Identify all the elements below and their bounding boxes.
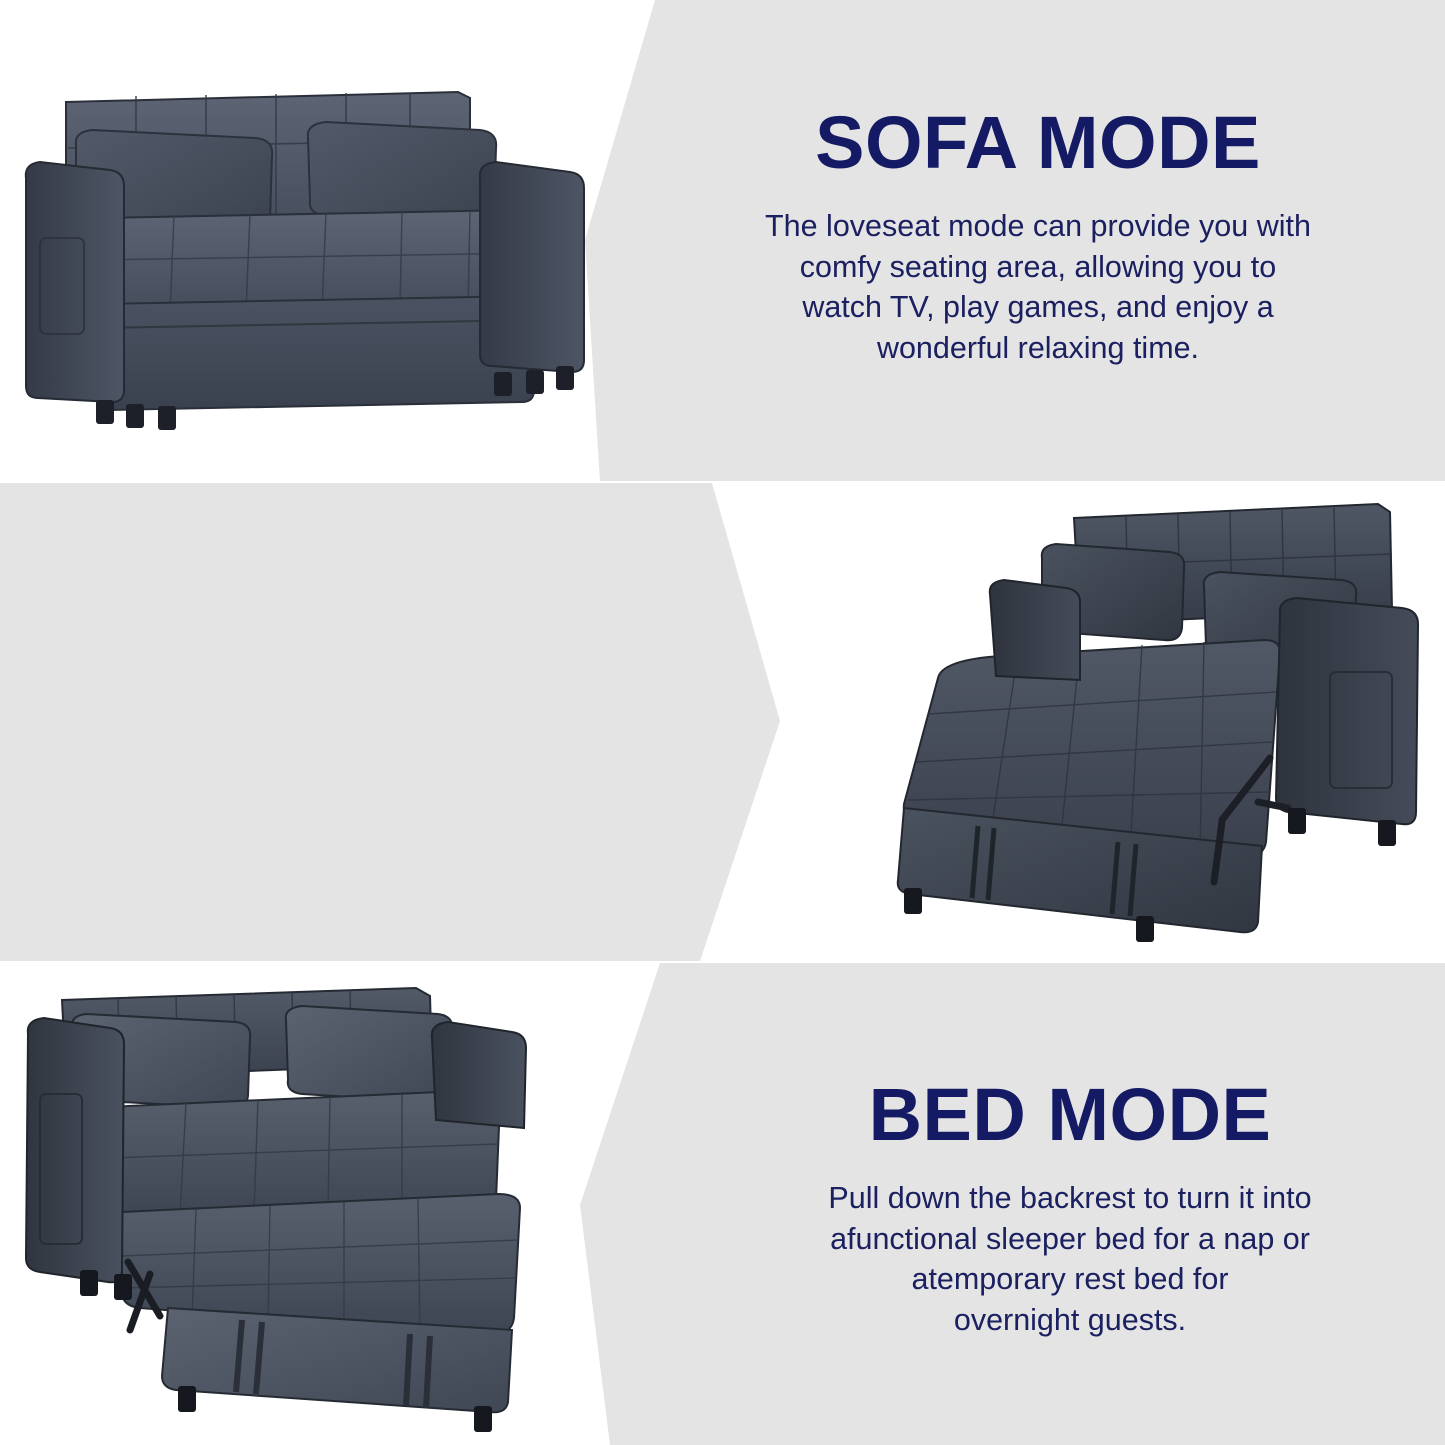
lounger-mode-image	[818, 490, 1442, 960]
bed-mode-line-4: overnight guests.	[828, 1300, 1311, 1341]
section-sofa-mode: SOFA MODE The loveseat mode can provide …	[0, 0, 1445, 481]
loveseat-sofa-illustration	[18, 60, 606, 438]
sofa-mode-line-2: comfy seating area, allowing you to	[765, 247, 1311, 288]
sofa-mode-title: SOFA MODE	[815, 106, 1261, 180]
section-bed-mode: BED MODE Pull down the backrest to turn …	[0, 963, 1445, 1445]
sofa-mode-line-1: The loveseat mode can provide you with	[765, 206, 1311, 247]
sofa-mode-text-block: SOFA MODE The loveseat mode can provide …	[688, 106, 1388, 368]
bed-mode-description: Pull down the backrest to turn it into a…	[828, 1178, 1311, 1340]
bed-mode-title: BED MODE	[869, 1078, 1272, 1152]
bed-mode-text-block: BED MODE Pull down the backrest to turn …	[720, 1078, 1420, 1340]
sofa-mode-line-4: wonderful relaxing time.	[765, 328, 1311, 369]
section-lounger-mode: LOUNGER MODE Pull out the end of the sof…	[0, 483, 1445, 961]
chaise-lounger-illustration	[818, 490, 1442, 960]
bed-mode-line-1: Pull down the backrest to turn it into	[828, 1178, 1311, 1219]
bed-mode-image	[18, 978, 642, 1433]
sofa-mode-image	[18, 60, 606, 438]
sofa-mode-description: The loveseat mode can provide you with c…	[765, 206, 1311, 368]
product-feature-infographic: SOFA MODE The loveseat mode can provide …	[0, 0, 1445, 1445]
sleeper-bed-illustration	[18, 978, 642, 1433]
bed-mode-line-3: atemporary rest bed for	[828, 1259, 1311, 1300]
sofa-mode-line-3: watch TV, play games, and enjoy a	[765, 287, 1311, 328]
bed-mode-line-2: afunctional sleeper bed for a nap or	[828, 1219, 1311, 1260]
